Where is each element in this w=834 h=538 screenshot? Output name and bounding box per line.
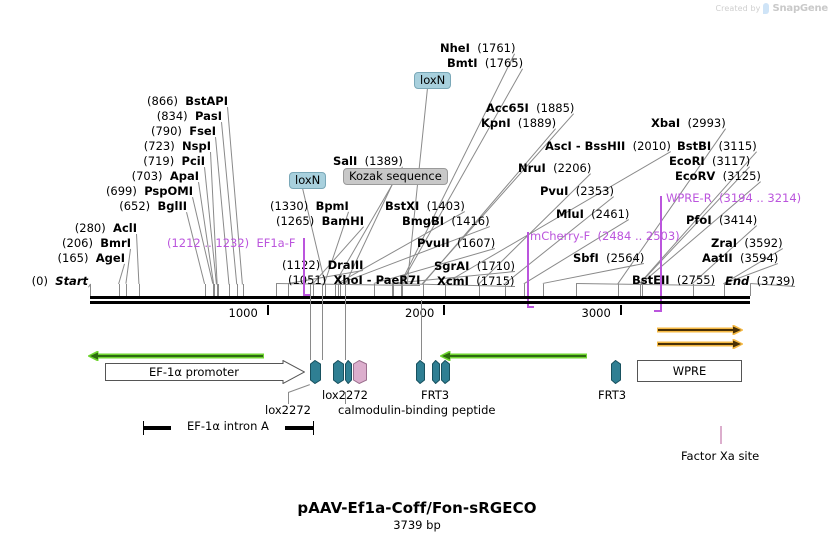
enzyme-label-pspomi: (699) PspOMI <box>106 185 193 198</box>
enzyme-label-bmri: (206) BmrI <box>62 237 131 250</box>
enzyme-position: (3125) <box>723 169 761 183</box>
primer-range: (1212 .. 1232) <box>167 236 249 250</box>
enzyme-label-pfoi: PfoI (3414) <box>686 214 757 227</box>
feature-leader-line <box>288 384 310 393</box>
enzyme-label-sgrai: SgrAI (1710) <box>434 260 515 273</box>
primer-name: WPRE-R <box>666 191 719 205</box>
enzyme-position: (1389) <box>365 154 403 168</box>
enzyme-tick <box>90 284 91 296</box>
ruler-label-3000: 3000 <box>582 306 611 320</box>
enzyme-label-bglii: (652) BglII <box>119 200 187 213</box>
green-arrow-icon <box>440 351 587 361</box>
feature-calmodulin-binding-peptide[interactable] <box>353 360 367 384</box>
enzyme-position: (3115) <box>718 139 756 153</box>
enzyme-name: SalI <box>333 154 357 168</box>
enzyme-name: NruI <box>518 161 546 175</box>
enzyme-position: (1710) <box>477 259 515 273</box>
enzyme-position: (2206) <box>553 161 591 175</box>
enzyme-tick <box>479 284 480 296</box>
enzyme-name: BmrI <box>100 236 131 250</box>
leader-line <box>227 107 243 284</box>
snapgene-logo-icon <box>763 3 769 14</box>
enzyme-position: (1265) <box>276 214 314 228</box>
enzyme-label-apai: (703) ApaI <box>132 170 199 183</box>
primer-label-ef1a-f: (1212 .. 1232) EF1a-F <box>167 237 295 250</box>
enzyme-tick <box>217 284 218 296</box>
enzyme-position: (1403) <box>427 199 465 213</box>
enzyme-name: MluI <box>556 207 584 221</box>
enzyme-position: (1122) <box>282 258 320 272</box>
ruler-label-2000: 2000 <box>405 306 434 320</box>
enzyme-name: BpmI <box>316 199 349 213</box>
primer-foot-1 <box>527 306 534 308</box>
enzyme-position: (1885) <box>536 101 574 115</box>
enzyme-position: (1607) <box>457 236 495 250</box>
enzyme-position: (2461) <box>591 207 629 221</box>
enzyme-label-asci-bsshii: AscI - BssHII (2010) <box>545 140 671 153</box>
leader-line <box>118 264 125 284</box>
feature-ef1a-promoter[interactable]: EF-1α promoter <box>105 360 305 384</box>
feature-badge-loxn[interactable]: loxN <box>414 72 451 89</box>
snapgene-brand-text: SnapGene <box>772 3 828 14</box>
enzyme-tick <box>213 284 214 296</box>
orange-arrow-icon <box>657 339 743 349</box>
enzyme-tick <box>750 284 751 296</box>
enzyme-label-bstapi: (866) BstAPI <box>147 95 228 108</box>
enzyme-name: BstAPI <box>185 94 228 108</box>
enzyme-tick <box>340 284 341 296</box>
enzyme-position: (280) <box>75 221 106 235</box>
backbone-line-bottom <box>90 301 750 304</box>
enzyme-label-bamhi: (1265) BamHI <box>276 215 364 228</box>
enzyme-name: ZraI <box>711 236 737 250</box>
small-feature-arrow-icon <box>353 360 367 384</box>
feature-connector-0 <box>310 284 311 360</box>
enzyme-label-end: End (3739) <box>725 275 795 288</box>
leader-line <box>125 249 131 284</box>
small-feature-arrow-icon <box>333 360 344 384</box>
enzyme-position: (206) <box>62 236 93 250</box>
plasmid-length: 3739 bp <box>0 518 834 532</box>
enzyme-label-fsei: (790) FseI <box>151 125 216 138</box>
enzyme-name: KpnI <box>481 116 511 130</box>
ruler-tick-2000 <box>443 305 445 315</box>
enzyme-tick <box>338 284 339 296</box>
feature-track-label-frt3-3: FRT3 <box>421 388 449 402</box>
enzyme-name: EcoRV <box>675 169 715 183</box>
enzyme-name: BamHI <box>322 214 364 228</box>
enzyme-name: PvuII <box>417 236 450 250</box>
enzyme-tick <box>243 284 244 296</box>
feature-label-ef1a-intron-a: EF-1α intron A <box>187 419 269 433</box>
feature-loxn-site-1[interactable] <box>333 360 344 384</box>
enzyme-name: XhoI - PaeR7I <box>334 273 421 287</box>
enzyme-name: AatII <box>702 251 733 265</box>
enzyme-position: (834) <box>157 109 188 123</box>
enzyme-name: BstBI <box>677 139 711 153</box>
enzyme-name: Acc65I <box>486 101 529 115</box>
enzyme-position: (0) <box>32 274 48 288</box>
intron-bar-left <box>143 426 171 430</box>
feature-connector-1 <box>322 284 323 360</box>
enzyme-label-sbfi: SbfI (2564) <box>573 252 644 265</box>
enzyme-label-acc65i: Acc65I (1885) <box>486 102 574 115</box>
feature-tick-stub-0 <box>288 392 289 404</box>
enzyme-label-sali: SalI (1389) <box>333 155 403 168</box>
enzyme-tick <box>576 284 577 296</box>
enzyme-name: BstEII <box>632 273 670 287</box>
feature-frt3-site-1[interactable] <box>432 360 440 384</box>
enzyme-position: (790) <box>151 124 182 138</box>
feature-frt3-site-2[interactable] <box>441 360 450 384</box>
snapgene-plasmid-map: Created by SnapGene (866) BstAPI(834) Pa… <box>0 0 834 538</box>
enzyme-position: (2353) <box>576 184 614 198</box>
enzyme-name: Start <box>55 274 88 288</box>
enzyme-position: (3414) <box>719 213 757 227</box>
primer-range: (3194 .. 3214) <box>719 191 801 205</box>
enzyme-name: PspOMI <box>144 184 193 198</box>
feature-lox2272-site-1[interactable] <box>310 360 321 384</box>
enzyme-position: (2010) <box>633 139 671 153</box>
enzyme-position: (1715) <box>476 274 514 288</box>
enzyme-name: SgrAI <box>434 259 469 273</box>
enzyme-label-bmgbi: BmgBI (1416) <box>402 215 490 228</box>
enzyme-label-nrui: NruI (2206) <box>518 162 591 175</box>
enzyme-tick <box>543 284 544 296</box>
primer-name: mCherry-F <box>530 229 598 243</box>
enzyme-name: PfoI <box>686 213 712 227</box>
enzyme-name: PciI <box>182 154 205 168</box>
enzyme-label-bstxi: BstXI (1403) <box>385 200 465 213</box>
feature-tick-stub-1 <box>345 392 346 404</box>
enzyme-label-bsteii: BstEII (2755) <box>632 274 715 287</box>
small-feature-arrow-icon <box>441 360 450 384</box>
enzyme-tick <box>237 284 238 296</box>
enzyme-name: NspI <box>182 139 211 153</box>
enzyme-position: (1889) <box>518 116 556 130</box>
enzyme-tick <box>139 284 140 296</box>
enzyme-position: (3117) <box>712 154 750 168</box>
enzyme-tick <box>205 284 206 296</box>
enzyme-position: (866) <box>147 94 178 108</box>
enzyme-label-nhei: NheI (1761) <box>440 42 515 55</box>
enzyme-name: BstXI <box>385 199 419 213</box>
small-feature-arrow-icon <box>416 360 425 384</box>
enzyme-tick <box>402 284 403 296</box>
enzyme-name: AgeI <box>96 251 125 265</box>
enzyme-tick <box>445 284 446 296</box>
enzyme-tick <box>119 284 120 296</box>
enzyme-position: (1416) <box>451 214 489 228</box>
enzyme-position: (719) <box>143 154 174 168</box>
enzyme-tick <box>724 284 725 296</box>
enzyme-tick <box>276 284 277 296</box>
enzyme-name: DraIII <box>328 258 364 272</box>
enzyme-label-bmti: BmtI (1765) <box>447 57 523 70</box>
enzyme-name: AclI <box>113 221 137 235</box>
enzyme-tick <box>642 284 643 296</box>
page-title: pAAV-Ef1a-Coff/Fon-sRGECO <box>0 499 834 517</box>
feature-frt3-site-3[interactable] <box>611 360 621 384</box>
enzyme-label-xcmi: XcmI (1715) <box>437 275 515 288</box>
feature-track-label-lox2272-0: lox2272 <box>265 403 311 417</box>
enzyme-name: BglII <box>158 199 188 213</box>
enzyme-name: PvuI <box>540 184 568 198</box>
enzyme-tick <box>325 284 326 296</box>
enzyme-name: PasI <box>195 109 222 123</box>
small-feature-arrow-icon <box>345 360 352 384</box>
ruler-label-1000: 1000 <box>229 306 258 320</box>
enzyme-tick <box>374 284 375 296</box>
wpre-arrow-1 <box>657 334 743 344</box>
wpre-arrow-0 <box>657 320 743 330</box>
intron-bar-right <box>285 426 313 430</box>
enzyme-label-bpmi: (1330) BpmI <box>270 200 349 213</box>
enzyme-tick <box>335 284 336 296</box>
enzyme-name: ApaI <box>170 169 199 183</box>
feature-wpre[interactable]: WPRE <box>637 360 742 382</box>
small-feature-arrow-icon <box>432 360 440 384</box>
enzyme-position: (1051) <box>288 273 326 287</box>
enzyme-position: (2564) <box>606 251 644 265</box>
enzyme-position: (652) <box>119 199 150 213</box>
enzyme-label-ecori: EcoRI (3117) <box>669 155 750 168</box>
primer-mark-2 <box>660 196 662 312</box>
feature-badge-kozak-sequence[interactable]: Kozak sequence <box>343 168 448 185</box>
enzyme-label-bstbi: BstBI (3115) <box>677 140 757 153</box>
enzyme-position: (699) <box>106 184 137 198</box>
ruler-tick-3000 <box>620 305 622 315</box>
primer-name: EF1a-F <box>249 236 295 250</box>
feature-lox2272-site-2[interactable] <box>416 360 425 384</box>
enzyme-position: (2755) <box>677 273 715 287</box>
enzyme-position: (165) <box>58 251 89 265</box>
promoter-arrow-1 <box>440 346 587 356</box>
enzyme-tick <box>618 284 619 296</box>
feature-connector-3 <box>421 300 422 360</box>
enzyme-name: BmtI <box>447 56 478 70</box>
enzyme-label-aatii: AatII (3594) <box>702 252 778 265</box>
enzyme-label-pvuii: PvuII (1607) <box>417 237 495 250</box>
enzyme-name: BmgBI <box>402 214 444 228</box>
feature-track-label-calmodulin-binding-peptide-1: calmodulin-binding peptide <box>338 403 496 417</box>
enzyme-position: (3739) <box>757 274 795 288</box>
factor-xa-mark <box>720 426 722 444</box>
enzyme-tick <box>288 284 289 296</box>
feature-label-factor-xa-site: Factor Xa site <box>681 449 759 463</box>
enzyme-position: (1761) <box>477 41 515 55</box>
enzyme-position: (3592) <box>744 236 782 250</box>
enzyme-tick <box>505 284 506 296</box>
primer-label-wpre-r: WPRE-R (3194 .. 3214) <box>666 192 801 205</box>
intron-right-cap <box>313 421 314 435</box>
enzyme-label-pvui: PvuI (2353) <box>540 185 614 198</box>
primer-label-mcherry-f: mCherry-F (2484 .. 2503) <box>530 230 680 243</box>
leader-line <box>136 234 139 284</box>
enzyme-label-draiii: (1122) DraIII <box>282 259 363 272</box>
enzyme-label-start: (0) Start <box>32 275 88 288</box>
created-by-snapgene: Created by SnapGene <box>715 3 828 14</box>
enzyme-label-agei: (165) AgeI <box>58 252 125 265</box>
enzyme-name: NheI <box>440 41 470 55</box>
feature-connector-2 <box>345 284 346 360</box>
enzyme-label-acli: (280) AclI <box>75 222 137 235</box>
feature-badge-loxn[interactable]: loxN <box>289 172 326 189</box>
promoter-arrow-0 <box>88 346 264 356</box>
enzyme-name: EcoRI <box>669 154 705 168</box>
enzyme-name: XcmI <box>437 274 469 288</box>
primer-range: (2484 .. 2503) <box>598 229 680 243</box>
enzyme-name: FseI <box>189 124 216 138</box>
enzyme-label-nspi: (723) NspI <box>144 140 211 153</box>
enzyme-tick <box>524 284 525 296</box>
feature-label-ef1a-promoter: EF-1α promoter <box>105 360 283 384</box>
enzyme-tick <box>693 284 694 296</box>
enzyme-label-mlui: MluI (2461) <box>556 208 629 221</box>
backbone-line-top <box>90 296 750 299</box>
enzyme-tick <box>126 284 127 296</box>
small-feature-arrow-icon <box>310 360 321 384</box>
enzyme-position: (1765) <box>485 56 523 70</box>
enzyme-tick <box>423 284 424 296</box>
enzyme-tick <box>313 284 314 296</box>
enzyme-label-xbai: XbaI (2993) <box>651 117 726 130</box>
enzyme-label-pasi: (834) PasI <box>157 110 222 123</box>
enzyme-label-kpni: KpnI (1889) <box>481 117 556 130</box>
primer-mark-0 <box>303 238 305 296</box>
enzyme-position: (2993) <box>687 116 725 130</box>
enzyme-name: SbfI <box>573 251 599 265</box>
enzyme-name: End <box>725 274 749 288</box>
primer-foot-2 <box>654 310 661 312</box>
enzyme-position: (3594) <box>740 251 778 265</box>
enzyme-name: AscI - BssHII <box>545 139 625 153</box>
enzyme-label-zrai: ZraI (3592) <box>711 237 783 250</box>
leader-line <box>215 137 229 284</box>
feature-track-label-frt3-4: FRT3 <box>598 388 626 402</box>
enzyme-position: (723) <box>144 139 175 153</box>
small-feature-arrow-icon <box>611 360 621 384</box>
enzyme-label-pcii: (719) PciI <box>143 155 205 168</box>
created-by-text: Created by <box>715 4 760 13</box>
enzyme-label-ecorv: EcoRV (3125) <box>675 170 761 183</box>
enzyme-position: (1330) <box>270 199 308 213</box>
enzyme-tick <box>393 284 394 296</box>
enzyme-tick <box>229 284 230 296</box>
ruler-tick-1000 <box>267 305 269 315</box>
enzyme-name: XbaI <box>651 116 680 130</box>
feature-frt-site-a[interactable] <box>345 360 352 384</box>
enzyme-position: (703) <box>132 169 163 183</box>
